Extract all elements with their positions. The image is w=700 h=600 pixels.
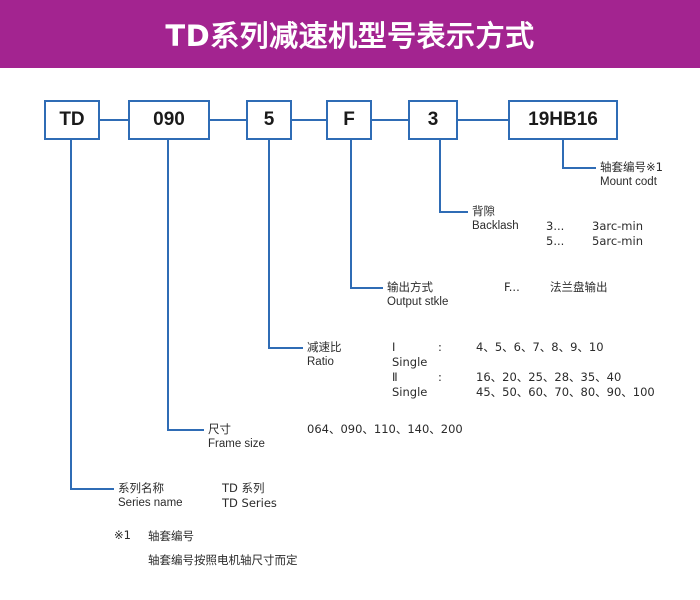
callout-series-name-cn: 系列名称 (118, 481, 183, 496)
callout-ratio-cn: 减速比 (307, 340, 342, 355)
output-style-value-row: F...法兰盘输出 (504, 280, 608, 295)
ratio-stage-3: Single (392, 385, 438, 400)
code-box-mount-code[interactable]: 19HB16 (508, 100, 618, 140)
frame-size-desc-0: 064、090、110、140、200 (307, 422, 463, 436)
callout-output-style-cn: 输出方式 (387, 280, 448, 295)
callout-series-name: 系列名称 Series name (118, 481, 183, 511)
ratio-value-row: Ⅰ:4、5、6、7、8、9、10 (392, 340, 655, 355)
leader-mount-code (563, 140, 596, 168)
series-name-desc-0: TD 系列 (222, 481, 265, 495)
callout-backlash-en: Backlash (472, 219, 519, 234)
code-box-frame-size[interactable]: 090 (128, 100, 210, 140)
code-box-series-name[interactable]: TD (44, 100, 100, 140)
ratio-desc-2: 16、20、25、28、35、40 (476, 370, 621, 384)
output-style-desc-0: 法兰盘输出 (550, 280, 608, 294)
callout-backlash: 背隙 Backlash (472, 204, 519, 234)
backlash-value-row: 3...3arc-min (546, 219, 643, 234)
callout-series-name-en: Series name (118, 496, 183, 511)
leader-output-style (351, 140, 383, 288)
leader-backlash (440, 140, 468, 212)
code-box-output-style[interactable]: F (326, 100, 372, 140)
backlash-code-0: 3... (546, 219, 592, 234)
callout-frame-size-cn: 尺寸 (208, 422, 265, 437)
ratio-value-row: Ⅱ:16、20、25、28、35、40 (392, 370, 655, 385)
callout-mount-code-cn: 轴套编号※1 (600, 160, 663, 175)
backlash-desc-0: 3arc-min (592, 219, 643, 233)
ratio-value-row: Single45、50、60、70、80、90、100 (392, 385, 655, 400)
callout-backlash-values: 3...3arc-min 5...5arc-min (546, 219, 643, 249)
series-name-desc-1: TD Series (222, 496, 277, 510)
callout-mount-code-en: Mount codt (600, 175, 663, 190)
backlash-code-1: 5... (546, 234, 592, 249)
ratio-value-row: Single (392, 355, 655, 370)
callout-output-style-values: F...法兰盘输出 (504, 280, 608, 295)
ratio-desc-3: 45、50、60、70、80、90、100 (476, 385, 655, 399)
ratio-colon-0: : (438, 340, 476, 355)
leader-frame-size (168, 140, 204, 430)
series-name-value-row: TD 系列 (222, 481, 277, 496)
callout-output-style: 输出方式 Output stkle (387, 280, 448, 310)
ratio-colon-2: : (438, 370, 476, 385)
footnote-title: 轴套编号 (148, 528, 194, 544)
callout-frame-size: 尺寸 Frame size (208, 422, 265, 452)
code-box-backlash[interactable]: 3 (408, 100, 458, 140)
callout-mount-code: 轴套编号※1 Mount codt (600, 160, 663, 190)
ratio-stage-2: Ⅱ (392, 370, 438, 385)
model-code-diagram: TD 090 5 F 3 19HB16 轴套编号※1 Mount codt 背隙… (0, 0, 700, 600)
callout-ratio-en: Ratio (307, 355, 342, 370)
frame-size-value-row: 064、090、110、140、200 (307, 422, 463, 437)
callout-ratio: 减速比 Ratio (307, 340, 342, 370)
ratio-stage-1: Single (392, 355, 438, 370)
leader-ratio (269, 140, 303, 348)
ratio-desc-0: 4、5、6、7、8、9、10 (476, 340, 604, 354)
backlash-value-row: 5...5arc-min (546, 234, 643, 249)
code-box-ratio[interactable]: 5 (246, 100, 292, 140)
callout-backlash-cn: 背隙 (472, 204, 519, 219)
callout-series-name-values: TD 系列 TD Series (222, 481, 277, 511)
callout-frame-size-values: 064、090、110、140、200 (307, 422, 463, 437)
ratio-stage-0: Ⅰ (392, 340, 438, 355)
callout-frame-size-en: Frame size (208, 437, 265, 452)
series-name-value-row: TD Series (222, 496, 277, 511)
backlash-desc-1: 5arc-min (592, 234, 643, 248)
callout-ratio-values: Ⅰ:4、5、6、7、8、9、10 Single Ⅱ:16、20、25、28、35… (392, 340, 655, 400)
leader-series-name (71, 140, 114, 489)
output-style-code-0: F... (504, 280, 550, 295)
callout-output-style-en: Output stkle (387, 295, 448, 310)
footnote-mark: ※1 (114, 528, 131, 542)
footnote-body: 轴套编号按照电机轴尺寸而定 (148, 552, 298, 568)
connector-lines (0, 0, 700, 600)
